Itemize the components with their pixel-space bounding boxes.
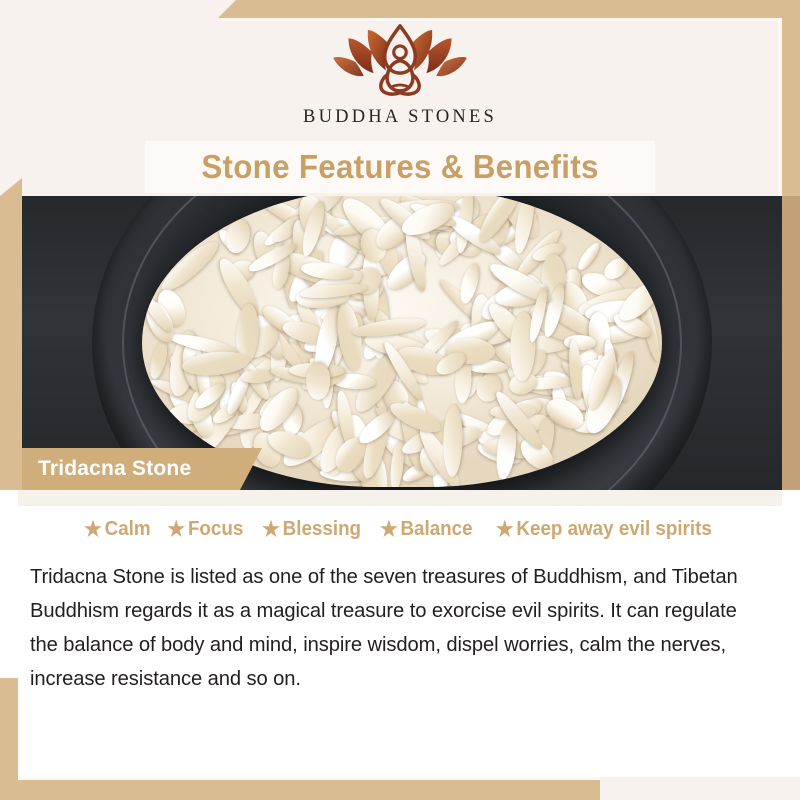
- stone-chip: [306, 362, 330, 400]
- decor-bar-photo-left: [0, 178, 22, 490]
- decor-hairline-bottom: [18, 777, 603, 780]
- stone-name-label: Tridacna Stone: [38, 457, 191, 481]
- benefit-label: Calm: [104, 518, 150, 541]
- star-icon: ★: [380, 519, 398, 540]
- poster-root: BUDDHA STONES Stone Features & Benefits …: [0, 0, 800, 800]
- decor-bar-photo-right: [782, 196, 800, 490]
- cream-background-bottom-right: [600, 777, 800, 800]
- photo-under-strip: [18, 490, 782, 506]
- benefit-item: ★Calm: [84, 518, 150, 541]
- benefit-label: Blessing: [283, 518, 361, 541]
- star-icon: ★: [262, 519, 280, 540]
- description-paragraph: Tridacna Stone is listed as one of the s…: [30, 560, 759, 696]
- benefit-label: Focus: [188, 518, 243, 541]
- lotus-meditation-icon: [330, 23, 470, 101]
- product-photo: [22, 196, 782, 490]
- star-icon: ★: [496, 519, 514, 540]
- page-title: Stone Features & Benefits: [20, 141, 780, 193]
- stone-name-banner: Tridacna Stone: [22, 448, 262, 490]
- decor-bar-bottom: [0, 780, 620, 800]
- benefit-label: Keep away evil spirits: [516, 518, 711, 541]
- benefit-item: ★Balance: [380, 518, 473, 541]
- star-icon: ★: [84, 519, 102, 540]
- stone-chip: [443, 404, 464, 477]
- benefits-list: ★Calm★Focus★Blessing★Balance★Keep away e…: [0, 518, 800, 541]
- stone-pile: [142, 196, 662, 487]
- benefit-item: ★Keep away evil spirits: [496, 518, 712, 541]
- brand-header: BUDDHA STONES: [0, 0, 800, 140]
- star-icon: ★: [168, 519, 186, 540]
- benefit-item: ★Focus: [168, 518, 244, 541]
- benefit-item: ★Blessing: [262, 518, 361, 541]
- stone-chip: [147, 339, 170, 380]
- decor-bar-left: [0, 678, 18, 800]
- brand-wordmark: BUDDHA STONES: [303, 107, 497, 128]
- benefit-label: Balance: [401, 518, 473, 541]
- stone-chip: [575, 240, 603, 272]
- photo-under-strip-line: [18, 506, 782, 508]
